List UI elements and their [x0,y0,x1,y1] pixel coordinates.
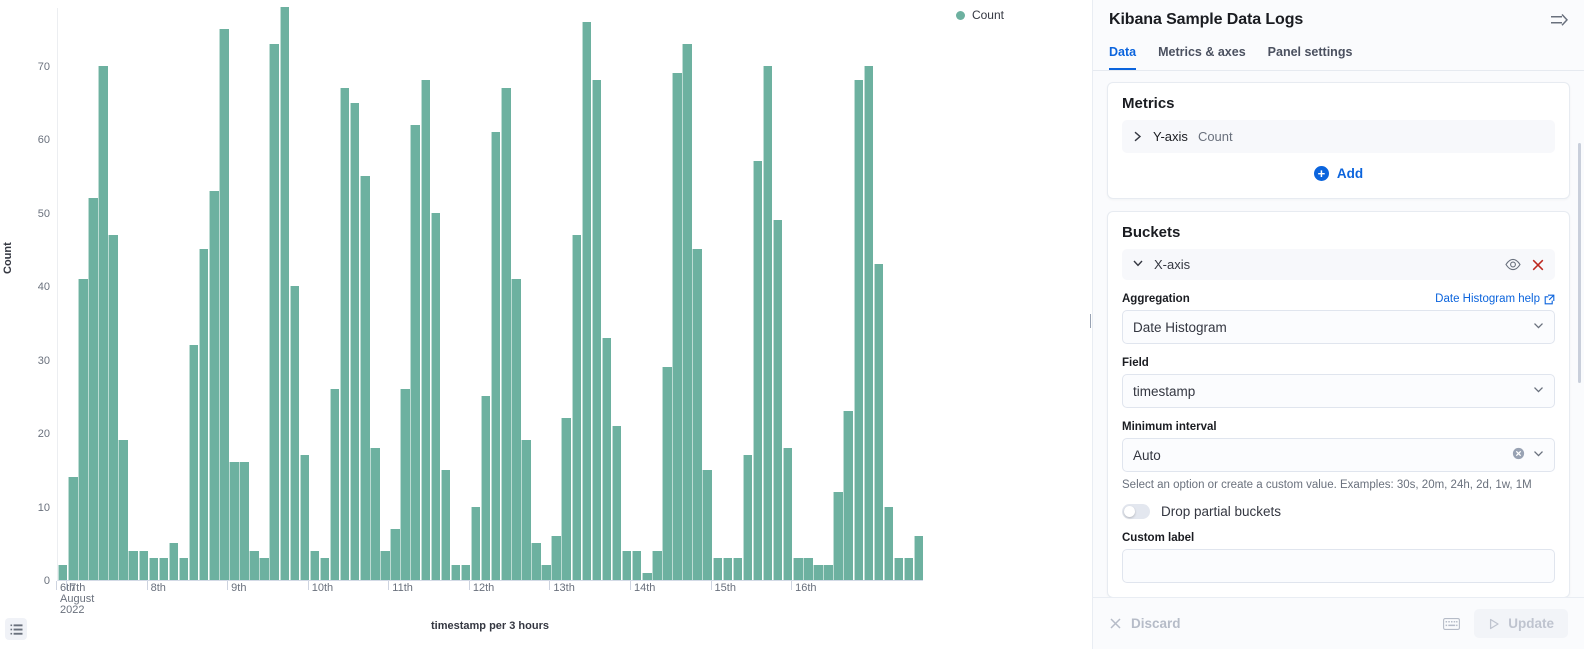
metric-row-title: Y-axis [1153,129,1188,144]
minimum-interval-value: Auto [1133,448,1161,463]
bar[interactable] [612,426,621,580]
drop-partial-buckets-toggle[interactable] [1122,504,1150,519]
bar[interactable] [68,477,77,580]
keyboard-shortcuts-icon[interactable] [1439,614,1464,634]
bar[interactable] [753,161,762,580]
bar[interactable] [733,558,742,580]
bar[interactable] [833,492,842,580]
editor-panel: Kibana Sample Data Logs Data Metrics & a… [1092,0,1584,649]
bar[interactable] [491,132,500,580]
x-axis-tick-line: 15th [715,581,736,594]
y-axis-ticks: 010203040506070 [0,0,50,649]
bar[interactable] [521,440,530,580]
update-label: Update [1508,616,1554,631]
bar[interactable] [582,22,591,580]
bar[interactable] [350,103,359,581]
x-axis-tick-mark [66,581,67,590]
metric-row-value: Count [1198,129,1233,144]
bar[interactable] [874,264,883,580]
interval-label-row: Minimum interval [1122,421,1555,433]
bar[interactable] [159,558,168,580]
bar[interactable] [360,176,369,580]
date-histogram-help-link[interactable]: Date Histogram help [1435,293,1555,305]
metric-row-y-axis[interactable]: Y-axis Count [1122,120,1555,153]
bar[interactable] [390,529,399,580]
bar[interactable] [541,565,550,580]
drop-partial-buckets-row: Drop partial buckets [1122,504,1555,519]
drop-partial-buckets-label: Drop partial buckets [1161,504,1281,519]
bar[interactable] [682,44,691,580]
editor-tabs: Data Metrics & axes Panel settings [1093,32,1584,71]
bar[interactable] [239,462,248,580]
bar[interactable] [410,125,419,580]
aggregation-value: Date Histogram [1133,320,1227,335]
custom-label-label: Custom label [1122,532,1194,544]
bar[interactable] [269,44,278,580]
editor-scroll-region: Metrics Y-axis Count + Add Bu [1093,71,1584,597]
add-metric-button[interactable]: + Add [1122,153,1555,184]
tab-data[interactable]: Data [1109,41,1136,70]
y-axis-tick-label: 60 [4,134,50,146]
bar[interactable] [561,418,570,580]
plot-wrapper: Count 010203040506070 6thAugust20227th8t… [0,0,1092,649]
bar[interactable] [219,29,228,580]
bar[interactable] [501,88,510,580]
y-axis-tick-label: 20 [4,428,50,440]
x-axis-tick-line: 10th [312,581,333,594]
editor-scrollbar[interactable] [1578,143,1581,383]
y-axis-tick-label: 70 [4,61,50,73]
bar[interactable] [300,455,309,580]
x-axis-tick-line: 11th [392,581,413,594]
page-title: Kibana Sample Data Logs [1109,11,1303,29]
bar[interactable] [914,536,923,580]
bar[interactable] [370,448,379,580]
chevron-down-icon [1532,383,1545,399]
bar[interactable] [330,389,339,580]
legend-toggle-button[interactable] [5,618,27,640]
bar[interactable] [692,249,701,580]
bar[interactable] [773,220,782,580]
tab-panel-settings[interactable]: Panel settings [1268,41,1353,70]
bar[interactable] [803,558,812,580]
x-axis-tick-line: 12th [473,581,494,594]
bar[interactable] [531,543,540,580]
clear-icon[interactable] [1512,447,1525,463]
bar[interactable] [380,551,389,580]
bar[interactable] [249,551,258,580]
bar[interactable] [189,345,198,580]
bar[interactable] [400,389,409,580]
x-axis-tick-mark [711,581,712,590]
bar[interactable] [743,455,752,580]
x-axis-tick-line: 14th [634,581,655,594]
bar[interactable] [602,338,611,580]
bar[interactable] [481,396,490,580]
tab-data-label: Data [1109,45,1136,59]
add-metric-label: Add [1337,166,1363,181]
bar[interactable] [723,558,732,580]
bar[interactable] [340,88,349,580]
discard-label: Discard [1131,616,1181,631]
buckets-heading: Buckets [1122,224,1555,241]
tab-metrics-and-axes-label: Metrics & axes [1158,45,1246,59]
bar[interactable] [431,213,440,580]
bar[interactable] [854,80,863,580]
chevron-right-icon[interactable] [1132,131,1143,142]
bar[interactable] [108,235,117,580]
x-axis-tick-label: 12th [473,581,494,594]
bar[interactable] [310,551,319,580]
x-axis-tick-mark [227,581,228,590]
chevron-down-icon [1532,319,1545,335]
discard-button[interactable]: Discard [1109,616,1181,631]
x-axis-tick-label: 11th [392,581,413,594]
bar[interactable] [632,551,641,580]
x-axis-tick-label: 16th [795,581,816,594]
x-axis-tick-label: 8th [151,581,166,594]
bar[interactable] [763,66,772,580]
field-value: timestamp [1133,384,1195,399]
x-axis-tick-mark [56,581,57,590]
metrics-heading: Metrics [1122,95,1555,112]
bar[interactable] [259,558,268,580]
bar[interactable] [702,470,711,580]
x-axis-tick-mark [388,581,389,590]
bar[interactable] [320,558,329,580]
minimum-interval-hint: Select an option or create a custom valu… [1122,478,1555,493]
bar[interactable] [511,279,520,580]
bar[interactable] [884,507,893,580]
bar[interactable] [209,191,218,580]
bar[interactable] [461,565,470,580]
x-axis-tick-label: 9th [231,581,246,594]
bar[interactable] [652,551,661,580]
chevron-down-icon[interactable] [1132,257,1144,272]
bar[interactable] [58,565,67,580]
chart-pane: Count Count 010203040506070 6thAugust202… [0,0,1092,649]
bar[interactable] [229,462,238,580]
bar[interactable] [783,448,792,580]
field-select[interactable]: timestamp [1122,374,1555,408]
bar[interactable] [139,551,148,580]
x-axis-tick-line: 8th [151,581,166,594]
aggregation-select[interactable]: Date Histogram [1122,310,1555,344]
x-axis-tick-line: 16th [795,581,816,594]
bar[interactable] [622,551,631,580]
bar[interactable] [471,507,480,580]
aggregation-label: Aggregation [1122,293,1190,305]
x-axis-tick-line: 2022 [60,605,94,616]
eye-icon[interactable] [1505,258,1521,271]
x-axis-tick-label: 13th [553,581,574,594]
bar-series [58,7,924,580]
x-axis-ticks: 6thAugust20227th8th9th10th11th12th13th14… [57,581,923,625]
x-axis-tick-mark [549,581,550,590]
bar[interactable] [864,66,873,580]
field-label: Field [1122,357,1149,369]
bar[interactable] [813,565,822,580]
bar[interactable] [894,558,903,580]
x-axis-tick-label: 14th [634,581,655,594]
bar[interactable] [98,66,107,580]
minimum-interval-select[interactable]: Auto [1122,438,1555,472]
y-axis-tick-label: 40 [4,281,50,293]
bar[interactable] [642,573,651,580]
bar[interactable] [551,536,560,580]
toggle-knob [1124,506,1135,517]
x-axis-tick-line: 7th [70,581,85,594]
bar[interactable] [823,565,832,580]
editor-header: Kibana Sample Data Logs [1093,0,1584,32]
bar[interactable] [199,249,208,580]
bar[interactable] [128,551,137,580]
bar[interactable] [149,558,158,580]
plot-area [57,8,923,581]
bar[interactable] [441,470,450,580]
bar[interactable] [78,279,87,580]
resize-grip-line [1090,314,1091,328]
bar[interactable] [662,367,671,580]
x-axis-tick-mark [308,581,309,590]
bar[interactable] [672,73,681,580]
custom-label-input[interactable] [1122,549,1555,583]
metrics-card: Metrics Y-axis Count + Add [1107,82,1570,199]
bar[interactable] [118,440,127,580]
x-axis-tick-mark [630,581,631,590]
bar[interactable] [421,80,430,580]
bar[interactable] [904,558,913,580]
update-button[interactable]: Update [1474,609,1568,638]
bar[interactable] [592,80,601,580]
y-axis-tick-label: 50 [4,208,50,220]
tab-metrics-and-axes[interactable]: Metrics & axes [1158,41,1246,70]
aggregation-label-row: Aggregation Date Histogram help [1122,293,1555,305]
x-axis-title: timestamp per 3 hours [57,620,923,632]
plus-circle-icon: + [1314,166,1329,181]
editor-footer: Discard Upd [1093,597,1584,649]
date-histogram-help-label: Date Histogram help [1435,293,1540,305]
x-axis-tick-line: 13th [553,581,574,594]
bar[interactable] [280,7,289,580]
bucket-row-title: X-axis [1154,257,1190,272]
y-axis-tick-label: 10 [4,502,50,514]
tab-panel-settings-label: Panel settings [1268,45,1353,59]
buckets-card: Buckets X-axis [1107,211,1570,597]
bucket-row-x-axis[interactable]: X-axis [1122,249,1555,280]
bar[interactable] [451,565,460,580]
chevron-down-icon [1532,447,1545,463]
x-axis-tick-mark [791,581,792,590]
bar[interactable] [572,235,581,580]
minimum-interval-label: Minimum interval [1122,421,1217,433]
bar[interactable] [88,198,97,580]
bar[interactable] [843,411,852,580]
y-axis-tick-label: 0 [4,575,50,587]
custom-label-row: Custom label [1122,532,1555,544]
x-axis-tick-label: 10th [312,581,333,594]
x-axis-tick-mark [147,581,148,590]
collapse-panel-icon[interactable] [1551,11,1568,32]
remove-bucket-icon[interactable] [1531,258,1545,272]
x-axis-tick-label: 15th [715,581,736,594]
x-axis-tick-label: 7th [70,581,85,594]
bar[interactable] [179,558,188,580]
y-axis-tick-label: 30 [4,355,50,367]
bar[interactable] [793,558,802,580]
kibana-visualize-editor: Count Count 010203040506070 6thAugust202… [0,0,1584,649]
bar[interactable] [290,286,299,580]
x-axis-tick-line: 9th [231,581,246,594]
bar[interactable] [713,558,722,580]
x-axis-tick-mark [469,581,470,590]
field-label-row: Field [1122,357,1555,369]
bar[interactable] [169,543,178,580]
